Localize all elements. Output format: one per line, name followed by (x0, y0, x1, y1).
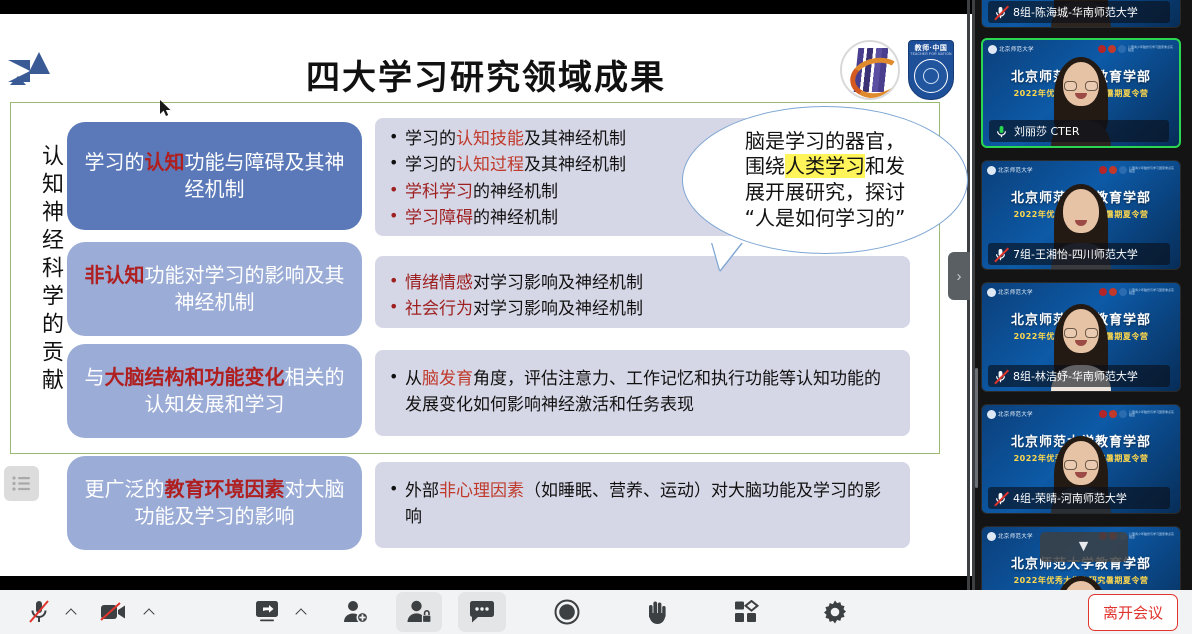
meeting-window: 四大学习研究领域成果 教师·中国 TEACHER FOR NATION 认知神经… (0, 0, 1192, 634)
invite-button[interactable] (332, 590, 378, 634)
microphone-muted-icon (993, 369, 1008, 384)
list-item: 社会行为对学习影响及神经机制 (387, 296, 896, 322)
meeting-toolbar: 离开会议 (0, 590, 1192, 634)
chat-bubble-icon (468, 600, 496, 624)
settings-button[interactable] (812, 590, 858, 634)
list-item: 外部非心理因素（如睡眠、营养、运动）对大脑功能及学习的影响 (387, 478, 896, 531)
chevron-right-icon: › (957, 269, 962, 284)
video-tile[interactable]: 北京师范大学 儿童青少年脑智与学习国家重点实验室 北京师范大学教育学部 2022… (981, 0, 1181, 28)
participant-name: 刘丽莎 CTER (1014, 123, 1080, 139)
video-tile[interactable]: 北京师范大学 儿童青少年脑智与学习国家重点实验室 北京师范大学教育学部 2022… (981, 404, 1181, 514)
shield-emblem (914, 59, 948, 93)
participant-name: 8组-陈海城-华南师范大学 (1013, 4, 1138, 20)
apps-grid-icon (734, 600, 760, 624)
microphone-muted-icon (993, 5, 1008, 20)
topic-box-4-highlight: 教育环境因素 (165, 477, 285, 501)
topic-box-1-prefix: 学习的 (85, 150, 145, 174)
tile-name-bar: 8组-陈海城-华南师范大学 (988, 1, 1170, 23)
leave-meeting-button[interactable]: 离开会议 (1088, 594, 1178, 631)
topic-box-1-suffix: 功能与障碍及其神经机制 (185, 150, 345, 201)
topic-box-2-suffix: 功能对学习的影响及其神经机制 (145, 263, 345, 314)
share-screen-button[interactable] (244, 590, 290, 634)
bullet-panel-4: 外部非心理因素（如睡眠、营养、运动）对大脑功能及学习的影响 (375, 462, 910, 548)
participant-name: 4组-荣晴-河南师范大学 (1013, 490, 1127, 506)
shared-screen-stage: 四大学习研究领域成果 教师·中国 TEACHER FOR NATION 认知神经… (0, 0, 972, 590)
mute-audio-button[interactable] (18, 590, 60, 634)
bullet-panel-2: 情绪情感对学习影响及神经机制 社会行为对学习影响及神经机制 (375, 256, 910, 328)
topic-box-3-highlight: 大脑结构和功能变化 (105, 365, 285, 389)
apps-button[interactable] (724, 590, 770, 634)
chevron-up-icon (143, 608, 154, 619)
record-circle-icon (554, 599, 580, 625)
tile-name-bar: 7组-王湘怡-四川师范大学 (988, 243, 1170, 265)
person-lock-icon (406, 600, 432, 624)
video-tile-active[interactable]: 北京师范大学 儿童青少年脑智与学习国家重点实验室 北京师范大学教育学部 2022… (981, 38, 1181, 148)
topic-box-2: 非认知功能对学习的影响及其神经机制 (67, 242, 362, 336)
chevron-up-icon (65, 608, 76, 619)
participant-name: 7组-王湘怡-四川师范大学 (1013, 246, 1138, 262)
page-title: 四大学习研究领域成果 (0, 50, 972, 99)
chevron-down-icon: ▼ (1076, 539, 1092, 555)
vertical-section-label: 认知神经科学的贡献 (22, 144, 62, 396)
tile-banner-logos: 北京师范大学 儿童青少年脑智与学习国家重点实验室 (983, 43, 1179, 55)
video-tile[interactable]: 北京师范大学 儿童青少年脑智与学习国家重点实验室 北京师范大学教育学部 2022… (981, 160, 1181, 270)
stop-video-button[interactable] (90, 590, 138, 634)
record-button[interactable] (544, 590, 590, 634)
chat-button[interactable] (458, 592, 506, 632)
callout-line-2-pre: 围绕 (745, 154, 785, 178)
topic-box-2-highlight: 非认知 (85, 263, 145, 287)
topic-box-4: 更广泛的教育环境因素对大脑功能及学习的影响 (67, 456, 362, 550)
list-icon (12, 476, 31, 491)
callout-highlight: 人类学习 (785, 154, 865, 178)
topic-box-3-prefix: 与 (85, 365, 105, 389)
microphone-muted-icon (28, 599, 50, 625)
participant-filmstrip[interactable]: 北京师范大学 儿童青少年脑智与学习国家重点实验室 北京师范大学教育学部 2022… (975, 0, 1192, 590)
add-person-icon (342, 600, 368, 624)
callout-line-4: “人是如何学习的” (745, 206, 906, 230)
participant-name: 8组-林洁妤-华南师范大学 (1013, 368, 1138, 384)
raised-hand-icon (644, 599, 670, 625)
list-item: 情绪情感对学习影响及神经机制 (387, 270, 896, 296)
list-icon-button[interactable] (4, 466, 39, 501)
callout-bubble: 脑是学习的器官， 围绕人类学习和发 展开展研究，探讨 “人是如何学习的” (682, 106, 968, 254)
logo-group: 教师·中国 TEACHER FOR NATION (840, 40, 954, 100)
share-screen-icon (254, 600, 280, 624)
topic-box-4-prefix: 更广泛的 (85, 477, 165, 501)
gear-icon (822, 599, 848, 625)
shield-sub-text: TEACHER FOR NATION (909, 52, 953, 56)
presentation-slide: 四大学习研究领域成果 教师·中国 TEACHER FOR NATION 认知神经… (0, 14, 972, 576)
tile-banner-logos: 北京师范大学 儿童青少年脑智与学习国家重点实验室 (982, 286, 1180, 298)
callout-line-1: 脑是学习的器官， (745, 129, 905, 153)
raise-hand-button[interactable] (634, 590, 680, 634)
microphone-muted-icon (993, 491, 1008, 506)
tile-banner-logos: 北京师范大学 儿童青少年脑智与学习国家重点实验室 (982, 164, 1180, 176)
video-tile[interactable]: 北京师范大学 儿童青少年脑智与学习国家重点实验室 北京师范大学教育学部 2022… (981, 282, 1181, 392)
collapse-filmstrip-button[interactable]: › (948, 252, 970, 300)
tile-name-bar: 刘丽莎 CTER (989, 120, 1169, 142)
tile-name-bar: 4组-荣晴-河南师范大学 (988, 487, 1170, 509)
mouse-cursor (160, 100, 172, 118)
camera-muted-icon (100, 601, 128, 623)
video-options-caret[interactable] (138, 590, 160, 634)
callout-line-2-post: 和发 (865, 154, 905, 178)
list-item: 从脑发育角度，评估注意力、工作记忆和执行功能等认知功能的发展变化如何影响神经激活… (387, 366, 896, 419)
participants-button[interactable] (396, 592, 442, 632)
chevron-up-icon (295, 608, 306, 619)
topic-box-1-highlight: 认知 (145, 150, 185, 174)
teacher-china-logo: 教师·中国 TEACHER FOR NATION (908, 40, 954, 100)
topic-box-1: 学习的认知功能与障碍及其神经机制 (67, 122, 362, 230)
topic-box-3: 与大脑结构和功能变化相关的认知发展和学习 (67, 344, 362, 438)
callout-line-3: 展开展研究，探讨 (745, 180, 905, 204)
share-options-caret[interactable] (290, 590, 312, 634)
callout-tail (712, 242, 742, 270)
microphone-active-icon (994, 124, 1009, 139)
bullet-panel-3: 从脑发育角度，评估注意力、工作记忆和执行功能等认知功能的发展变化如何影响神经激活… (375, 350, 910, 436)
tile-name-bar: 8组-林洁妤-华南师范大学 (988, 365, 1170, 387)
filmstrip-scrollbar[interactable] (975, 368, 978, 488)
microphone-muted-icon (993, 247, 1008, 262)
bnu-institute-logo (840, 40, 900, 100)
filmstrip-scroll-down-button[interactable]: ▼ (1040, 532, 1128, 562)
audio-options-caret[interactable] (60, 590, 82, 634)
tile-banner-logos: 北京师范大学 儿童青少年脑智与学习国家重点实验室 (982, 408, 1180, 420)
